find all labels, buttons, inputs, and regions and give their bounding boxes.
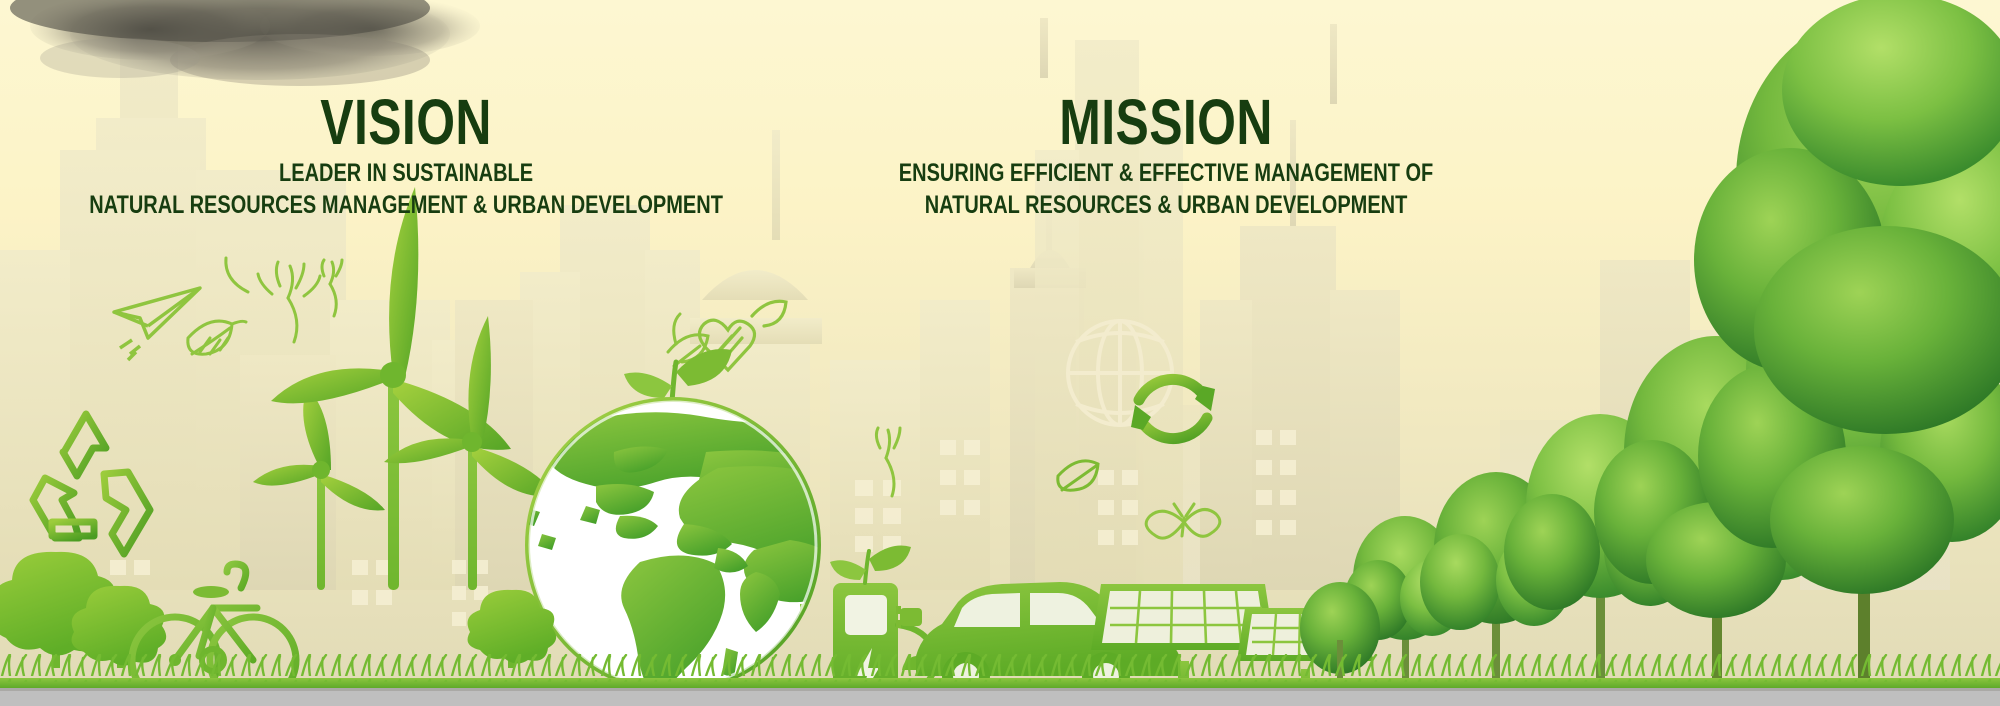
- vision-subtitle-line-2: NATURAL RESOURCES MANAGEMENT & URBAN DEV…: [89, 189, 723, 221]
- mission-title: MISSION: [906, 96, 1427, 148]
- vision-column: VISION LEADER IN SUSTAINABLE NATURAL RES…: [10, 96, 802, 266]
- mission-subtitle-line-2: NATURAL RESOURCES & URBAN DEVELOPMENT: [899, 189, 1433, 221]
- mission-subtitle-line-1: ENSURING EFFICIENT & EFFECTIVE MANAGEMEN…: [899, 157, 1433, 189]
- vision-subtitle-line-1: LEADER IN SUSTAINABLE: [89, 157, 723, 189]
- vision-title: VISION: [97, 96, 715, 148]
- mission-column: MISSION ENSURING EFFICIENT & EFFECTIVE M…: [832, 96, 1500, 266]
- vision-mission-text: VISION LEADER IN SUSTAINABLE NATURAL RES…: [0, 96, 1240, 266]
- eco-vision-mission-banner: VISION LEADER IN SUSTAINABLE NATURAL RES…: [0, 0, 2000, 706]
